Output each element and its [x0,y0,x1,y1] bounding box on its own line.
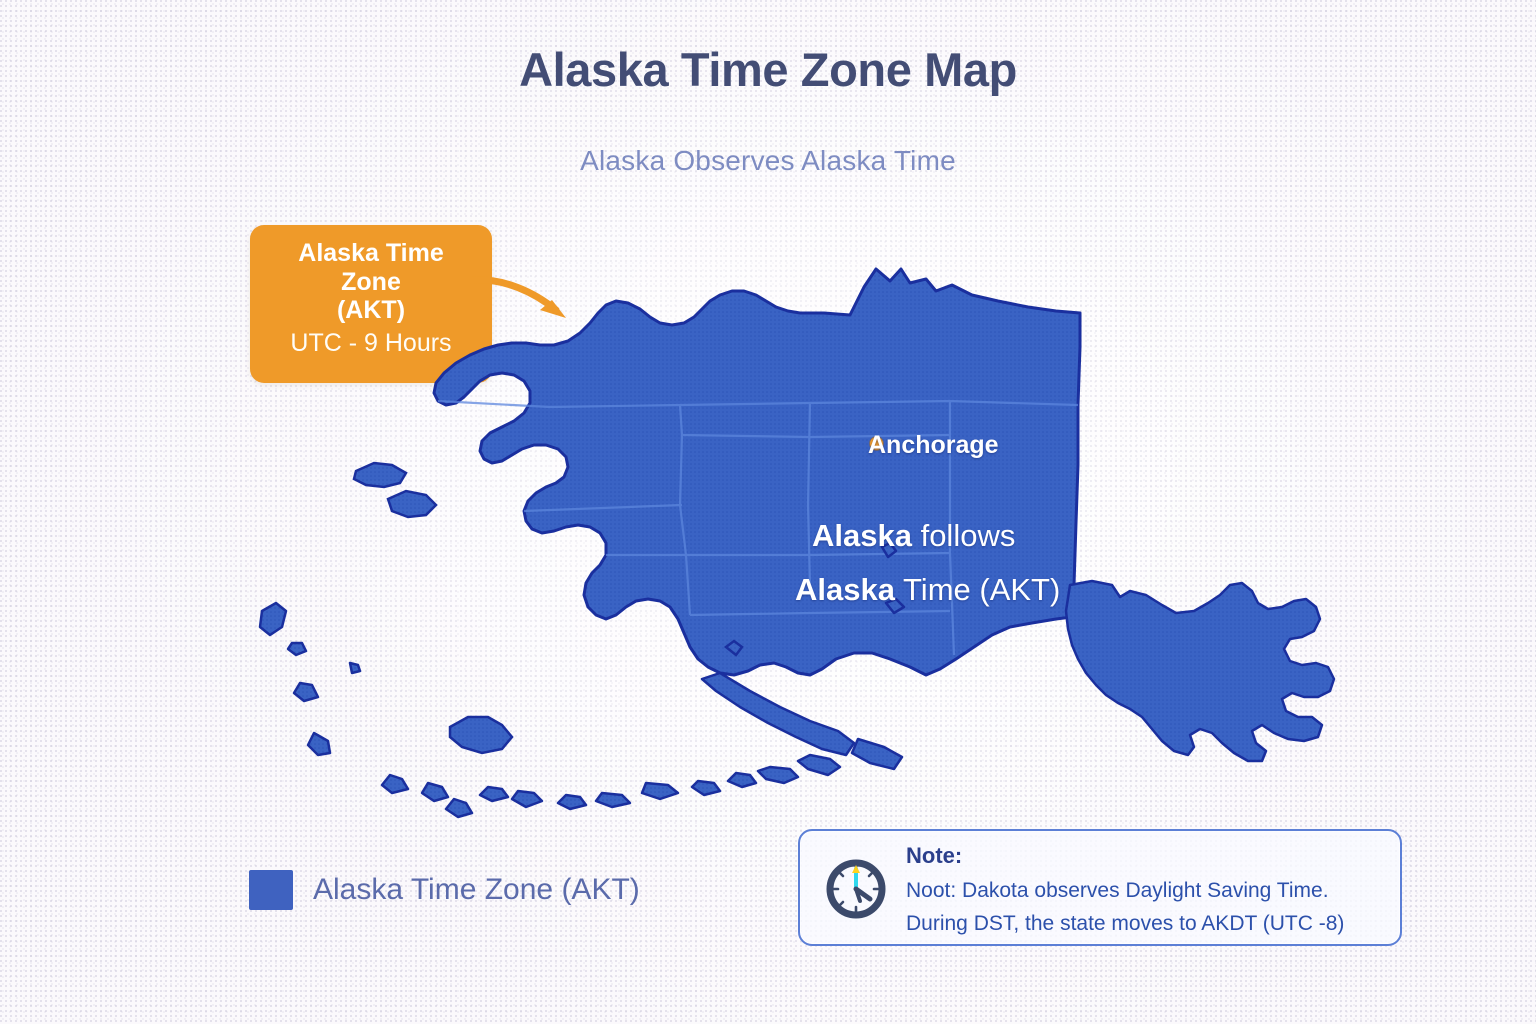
alaska-map-svg [250,255,1380,875]
alaska-map [250,255,1380,875]
legend-swatch-akt [249,870,293,910]
note-line-2: During DST, the state moves to AKDT (UTC… [906,912,1344,936]
note-title: Note: [906,843,962,869]
map-overlay-line-1-bold: Alaska [812,518,912,553]
map-overlay-line-1: Alaska follows [812,518,1015,554]
map-legend: Alaska Time Zone (AKT) [249,870,640,910]
southeast-panhandle [1066,581,1334,761]
alaska-time-zone-map-page: Alaska Time Zone Map Alaska Observes Ala… [0,0,1536,1024]
page-title: Alaska Time Zone Map [0,42,1536,97]
map-overlay-line-2: Alaska Time (AKT) [795,572,1060,608]
legend-label-akt: Alaska Time Zone (AKT) [313,873,640,907]
note-line-1: Noot: Dakota observes Daylight Saving Ti… [906,879,1329,903]
map-overlay-line-2-rest: Time (AKT) [895,572,1060,607]
map-overlay-line-1-rest: follows [912,518,1015,553]
map-overlay-line-2-bold: Alaska [795,572,895,607]
page-subtitle: Alaska Observes Alaska Time [0,145,1536,177]
clock-icon [824,857,888,921]
note-box: Note: Noot: Dakota observes Daylight Sav… [798,829,1402,946]
anchorage-label: Anchorage [868,431,999,460]
